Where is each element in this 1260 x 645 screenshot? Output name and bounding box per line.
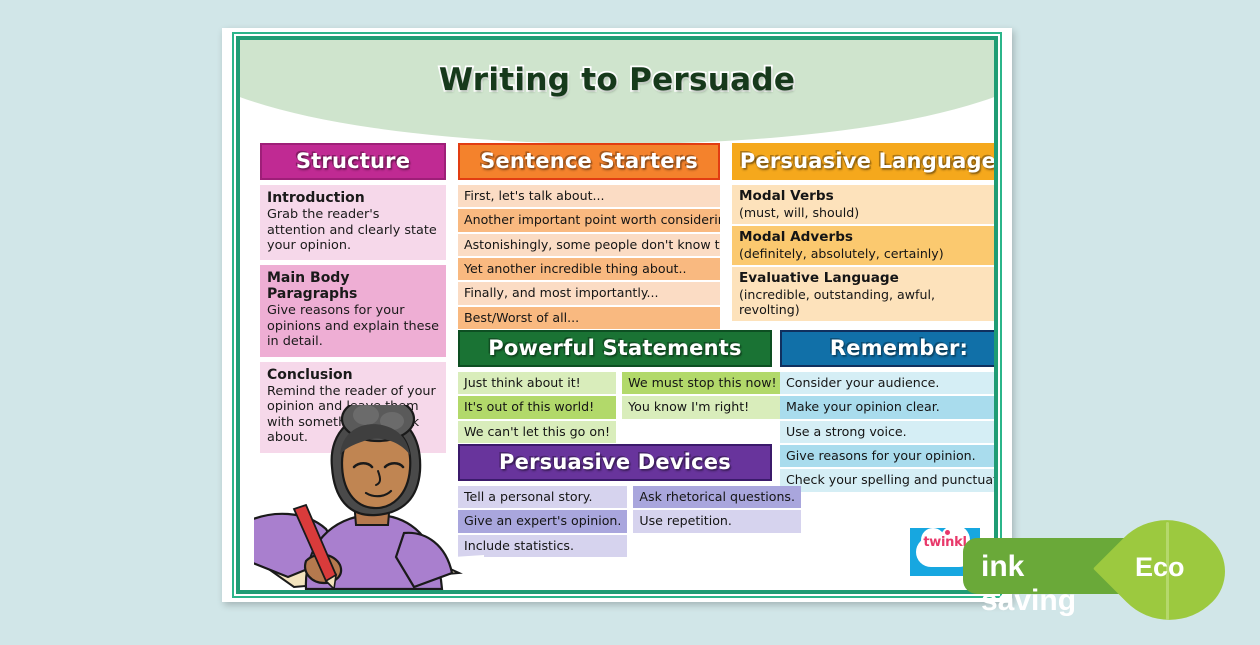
list-item: Just think about it! <box>458 372 616 394</box>
persuasive-language-list: Modal Verbs (must, will, should) Modal A… <box>732 185 998 321</box>
list-item: Modal Adverbs (definitely, absolutely, c… <box>732 226 998 265</box>
remember-list: Consider your audience. Make your opinio… <box>780 372 998 492</box>
language-term: Modal Verbs <box>739 188 997 205</box>
structure-block-introduction: Introduction Grab the reader's attention… <box>260 185 446 260</box>
girl-writing-illustration <box>254 405 484 590</box>
list-item: Evaluative Language (incredible, outstan… <box>732 267 998 321</box>
persuasive-language-heading: Persuasive Language <box>732 143 998 180</box>
sentence-starters-list: First, let's talk about... Another impor… <box>458 185 720 329</box>
powerful-statements-heading: Powerful Statements <box>458 330 772 367</box>
structure-block-main-body-paragraphs: Main Body Paragraphs Give reasons for yo… <box>260 265 446 356</box>
structure-block-title: Conclusion <box>267 367 439 383</box>
language-term: Modal Adverbs <box>739 229 997 246</box>
list-item: Another important point worth considerin… <box>458 209 720 231</box>
persuasive-devices-heading: Persuasive Devices <box>458 444 772 481</box>
list-item: Modal Verbs (must, will, should) <box>732 185 998 224</box>
language-term: Evaluative Language <box>739 270 997 287</box>
poster-page: Writing to Persuade Structure Introducti… <box>222 28 1012 602</box>
poster-border: Writing to Persuade Structure Introducti… <box>236 36 998 594</box>
list-item: We must stop this now! <box>622 372 782 394</box>
panel-sentence-starters: Sentence Starters First, let's talk abou… <box>458 143 720 331</box>
powerful-statements-right-column: We must stop this now! You know I'm righ… <box>622 372 782 445</box>
panel-powerful-statements: Powerful Statements Just think about it!… <box>458 330 772 445</box>
list-item: First, let's talk about... <box>458 185 720 207</box>
eco-label: Eco <box>1135 552 1185 583</box>
structure-block-title: Main Body Paragraphs <box>267 270 439 302</box>
ink-saving-label: ink saving <box>981 550 1076 618</box>
persuasive-devices-right-column: Ask rhetorical questions. Use repetition… <box>633 486 801 559</box>
structure-block-body: Grab the reader's attention and clearly … <box>267 207 439 253</box>
remember-heading: Remember: <box>780 330 998 367</box>
list-item: Use a strong voice. <box>780 421 998 443</box>
sentence-starters-heading: Sentence Starters <box>458 143 720 180</box>
list-item: Yet another incredible thing about.. <box>458 258 720 280</box>
list-item: Best/Worst of all... <box>458 307 720 329</box>
language-examples: (definitely, absolutely, certainly) <box>739 246 944 261</box>
panel-persuasive-language: Persuasive Language Modal Verbs (must, w… <box>732 143 998 323</box>
persuasive-devices-columns: Tell a personal story. Give an expert's … <box>458 486 772 559</box>
page-title: Writing to Persuade <box>240 62 994 98</box>
list-item: Give reasons for your opinion. <box>780 445 998 467</box>
list-item: Make your opinion clear. <box>780 396 998 418</box>
list-item: Ask rhetorical questions. <box>633 486 801 508</box>
structure-heading: Structure <box>260 143 446 180</box>
sparkle-icon <box>945 530 950 535</box>
list-item: Consider your audience. <box>780 372 998 394</box>
structure-block-body: Give reasons for your opinions and expla… <box>267 303 439 349</box>
panel-remember: Remember: Consider your audience. Make y… <box>780 330 998 494</box>
list-item: Use repetition. <box>633 510 801 532</box>
language-examples: (must, will, should) <box>739 205 859 220</box>
list-item: You know I'm right! <box>622 396 782 418</box>
list-item: Check your spelling and punctuation. <box>780 469 998 491</box>
structure-block-title: Introduction <box>267 190 439 206</box>
language-examples: (incredible, outstanding, awful, revolti… <box>739 287 935 317</box>
list-item: Finally, and most importantly... <box>458 282 720 304</box>
list-item: Astonishingly, some people don't know th… <box>458 234 720 256</box>
girl-writing-svg <box>254 405 484 590</box>
powerful-statements-columns: Just think about it! It's out of this wo… <box>458 372 772 445</box>
panel-persuasive-devices: Persuasive Devices Tell a personal story… <box>458 444 772 559</box>
